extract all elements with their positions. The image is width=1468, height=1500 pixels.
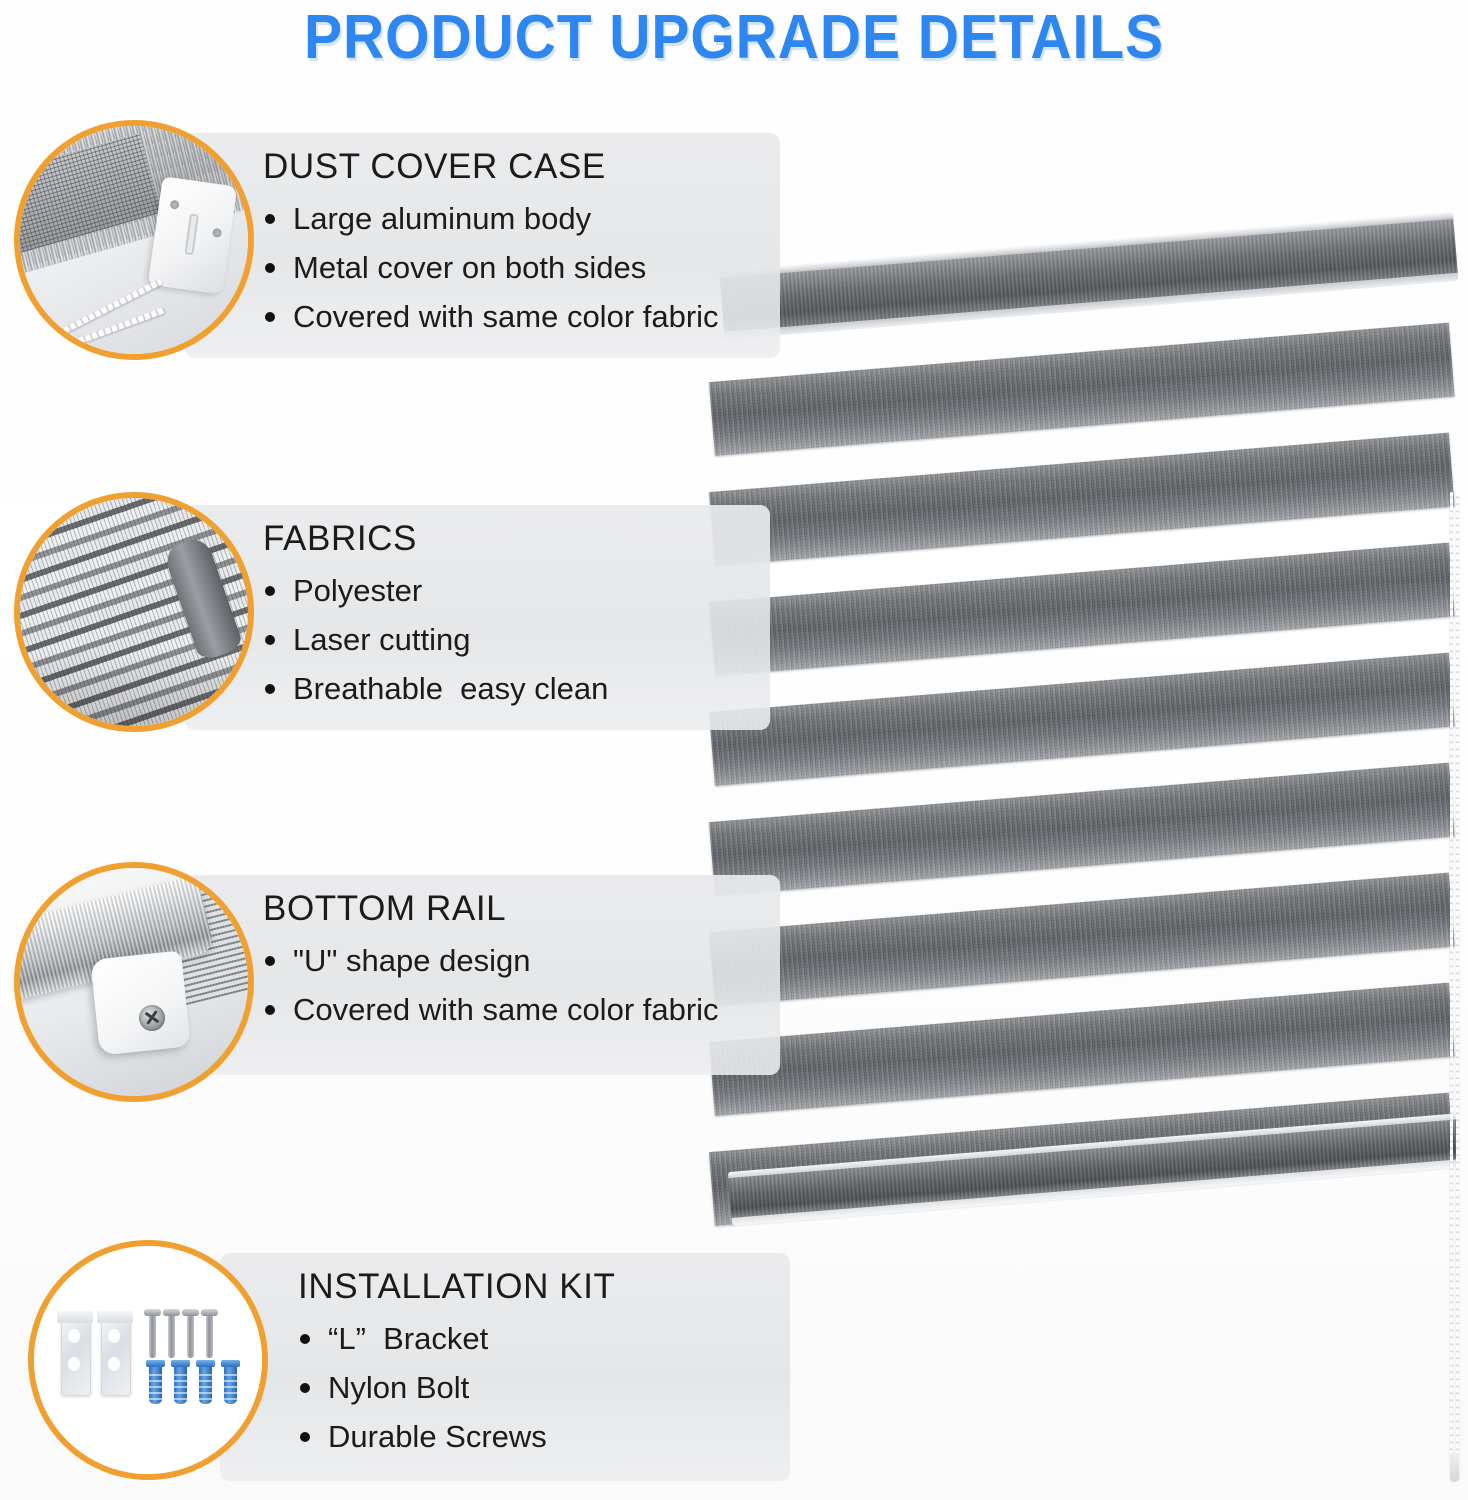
feature-dust-cover-case: DUST COVER CASE Large aluminum body Meta… — [0, 120, 800, 370]
blind-slat — [709, 433, 1455, 566]
feature-installation-kit: INSTALLATION KIT “L” Bracket Nylon Bolt … — [0, 1240, 820, 1490]
photo-shadow — [20, 648, 248, 726]
photo-content — [34, 1246, 262, 1474]
screw-icon — [212, 227, 222, 237]
screw-part — [206, 1314, 213, 1358]
feature-panel: FABRICS Polyester Laser cutting Breathab… — [185, 505, 770, 730]
bullet-item: Nylon Bolt — [298, 1364, 772, 1413]
bullet-item: Large aluminum body — [263, 195, 762, 244]
bead-chain-strand — [1456, 492, 1459, 1482]
fabric-closeup-photo — [14, 492, 254, 732]
metal-end-cap — [147, 176, 237, 295]
bullet-item: “L” Bracket — [298, 1315, 772, 1364]
feature-heading: DUST COVER CASE — [263, 147, 762, 187]
feature-panel: BOTTOM RAIL "U" shape design Covered wit… — [185, 875, 780, 1075]
product-zebra-blind-image — [712, 224, 1468, 1294]
feature-heading: BOTTOM RAIL — [263, 889, 762, 929]
nylon-bolt-part — [174, 1364, 187, 1404]
nylon-bolt-part — [149, 1364, 162, 1404]
infographic-page: PRODUCT UPGRADE DETAILS DUST COVER — [0, 0, 1468, 1500]
bullet-item: Covered with same color fabric — [263, 293, 762, 342]
l-bracket-part — [101, 1314, 131, 1396]
bead-chain-strand — [1450, 492, 1453, 1482]
blind-slat — [709, 653, 1455, 786]
photo-content — [20, 126, 248, 354]
anchors-row — [149, 1364, 237, 1404]
white-end-cap — [90, 950, 191, 1055]
feature-fabrics: FABRICS Polyester Laser cutting Breathab… — [0, 492, 800, 742]
fixings-group — [149, 1314, 237, 1404]
chain-slot — [183, 213, 198, 256]
bottom-rail-photo — [14, 862, 254, 1102]
blind-slat — [709, 763, 1455, 896]
bullet-item: Metal cover on both sides — [263, 244, 762, 293]
bullet-item: Durable Screws — [298, 1413, 772, 1462]
bullet-item: Polyester — [263, 567, 752, 616]
nylon-bolt-part — [199, 1364, 212, 1404]
nylon-bolt-part — [224, 1364, 237, 1404]
page-title: PRODUCT UPGRADE DETAILS — [59, 2, 1410, 73]
bead-chain-connector — [1450, 1452, 1459, 1482]
feature-bullet-list: Polyester Laser cutting Breathable easy … — [263, 567, 752, 714]
installation-kit-photo — [28, 1240, 268, 1480]
bullet-item: "U" shape design — [263, 937, 762, 986]
blind-slat — [709, 983, 1455, 1116]
feature-bullet-list: “L” Bracket Nylon Bolt Durable Screws — [298, 1315, 772, 1462]
photo-content — [20, 868, 248, 1096]
screws-row — [149, 1314, 237, 1358]
screw-part — [168, 1314, 175, 1358]
bullet-item: Breathable easy clean — [263, 665, 752, 714]
bullet-item: Laser cutting — [263, 616, 752, 665]
screw-icon — [169, 199, 179, 209]
blind-slat — [709, 873, 1455, 1006]
blind-headrail — [719, 211, 1458, 340]
bead-chain — [1450, 492, 1459, 1482]
kit-parts-group — [61, 1314, 239, 1410]
feature-bottom-rail: BOTTOM RAIL "U" shape design Covered wit… — [0, 862, 800, 1112]
feature-heading: FABRICS — [263, 519, 752, 559]
feature-bullet-list: "U" shape design Covered with same color… — [263, 937, 762, 1035]
l-bracket-part — [61, 1314, 91, 1396]
screw-part — [149, 1314, 156, 1358]
screw-icon — [139, 1005, 165, 1031]
feature-heading: INSTALLATION KIT — [298, 1267, 772, 1307]
dust-cover-case-photo — [14, 120, 254, 360]
blind-slat — [709, 323, 1455, 456]
screw-part — [187, 1314, 194, 1358]
blind-slat — [709, 543, 1455, 676]
feature-panel: DUST COVER CASE Large aluminum body Meta… — [185, 133, 780, 358]
headrail-body — [720, 219, 1458, 332]
photo-content — [20, 498, 248, 726]
feature-panel: INSTALLATION KIT “L” Bracket Nylon Bolt … — [220, 1253, 790, 1481]
bullet-item: Covered with same color fabric — [263, 986, 762, 1035]
feature-bullet-list: Large aluminum body Metal cover on both … — [263, 195, 762, 342]
